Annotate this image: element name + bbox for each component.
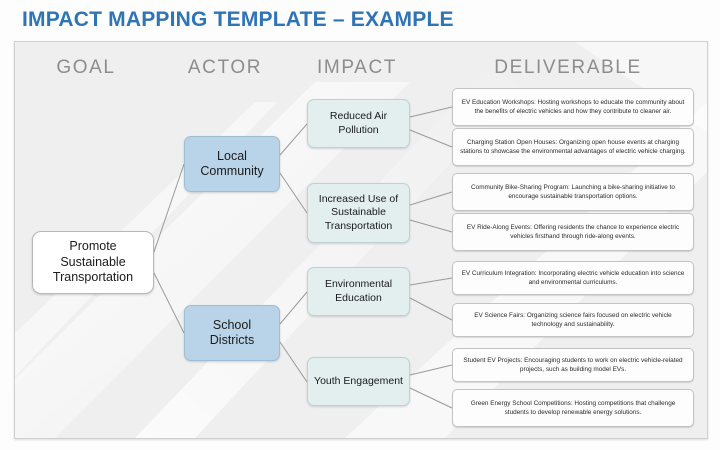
deliverable-node-4[interactable]: EV Ride-Along Events: Offering residents… [452,213,694,251]
impact-map-canvas: IMPACT MAPPING TEMPLATE – EXAMPLE [0,0,720,450]
actor-node-local-community[interactable]: Local Community [184,136,280,192]
impact-node-environmental-education[interactable]: Environmental Education [307,267,410,316]
deliverable-node-5[interactable]: EV Curriculum Integration: Incorporating… [452,261,694,295]
impact-node-youth-engagement[interactable]: Youth Engagement [307,357,410,406]
column-header-deliverable: DELIVERABLE [458,57,678,79]
goal-node-promote-sustainable-transportation[interactable]: Promote Sustainable Transportation [32,231,154,294]
page-title: IMPACT MAPPING TEMPLATE – EXAMPLE [22,8,454,32]
column-header-impact: IMPACT [247,57,467,79]
deliverable-node-6[interactable]: EV Science Fairs: Organizing science fai… [452,303,694,337]
deliverable-node-1[interactable]: EV Education Workshops: Hosting workshop… [452,88,694,126]
impact-node-increased-use-of-sustainable-transportation[interactable]: Increased Use of Sustainable Transportat… [307,183,410,243]
deliverable-node-3[interactable]: Community Bike-Sharing Program: Launchin… [452,173,694,211]
deliverable-node-8[interactable]: Green Energy School Competitions: Hostin… [452,389,694,427]
actor-node-school-districts[interactable]: School Districts [184,305,280,361]
deliverable-node-2[interactable]: Charging Station Open Houses: Organizing… [452,128,694,166]
impact-node-reduced-air-pollution[interactable]: Reduced Air Pollution [307,99,410,148]
deliverable-node-7[interactable]: Student EV Projects: Encouraging student… [452,348,694,382]
